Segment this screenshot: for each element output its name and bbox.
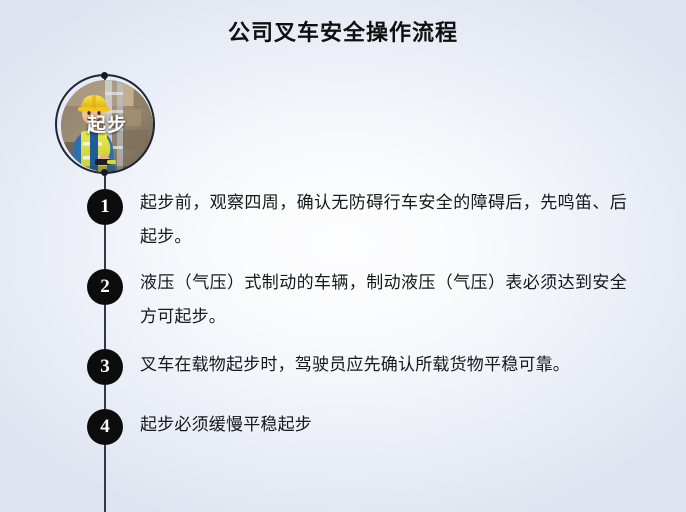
hero-photo-circle: 起步 <box>55 74 159 178</box>
step-number-badge: 4 <box>87 409 123 445</box>
page-title: 公司叉车安全操作流程 <box>0 18 686 48</box>
step-description: 叉车在载物起步时，驾驶员应先确认所载货物平稳可靠。 <box>140 348 627 382</box>
step-description: 起步前，观察四周，确认无防碍行车安全的障碍后，先鸣笛、后起步。 <box>140 186 627 254</box>
hero-ring-outline <box>55 74 155 174</box>
ring-dot-top-icon <box>101 72 108 79</box>
slide-canvas: 公司叉车安全操作流程 <box>0 0 686 512</box>
step-number-badge: 3 <box>87 349 123 385</box>
ring-dot-bottom-icon <box>101 169 108 176</box>
step-number-badge: 2 <box>87 269 123 305</box>
step-description: 液压（气压）式制动的车辆，制动液压（气压）表必须达到安全方可起步。 <box>140 266 627 334</box>
step-description: 起步必须缓慢平稳起步 <box>140 408 627 442</box>
step-number-badge: 1 <box>87 189 123 225</box>
